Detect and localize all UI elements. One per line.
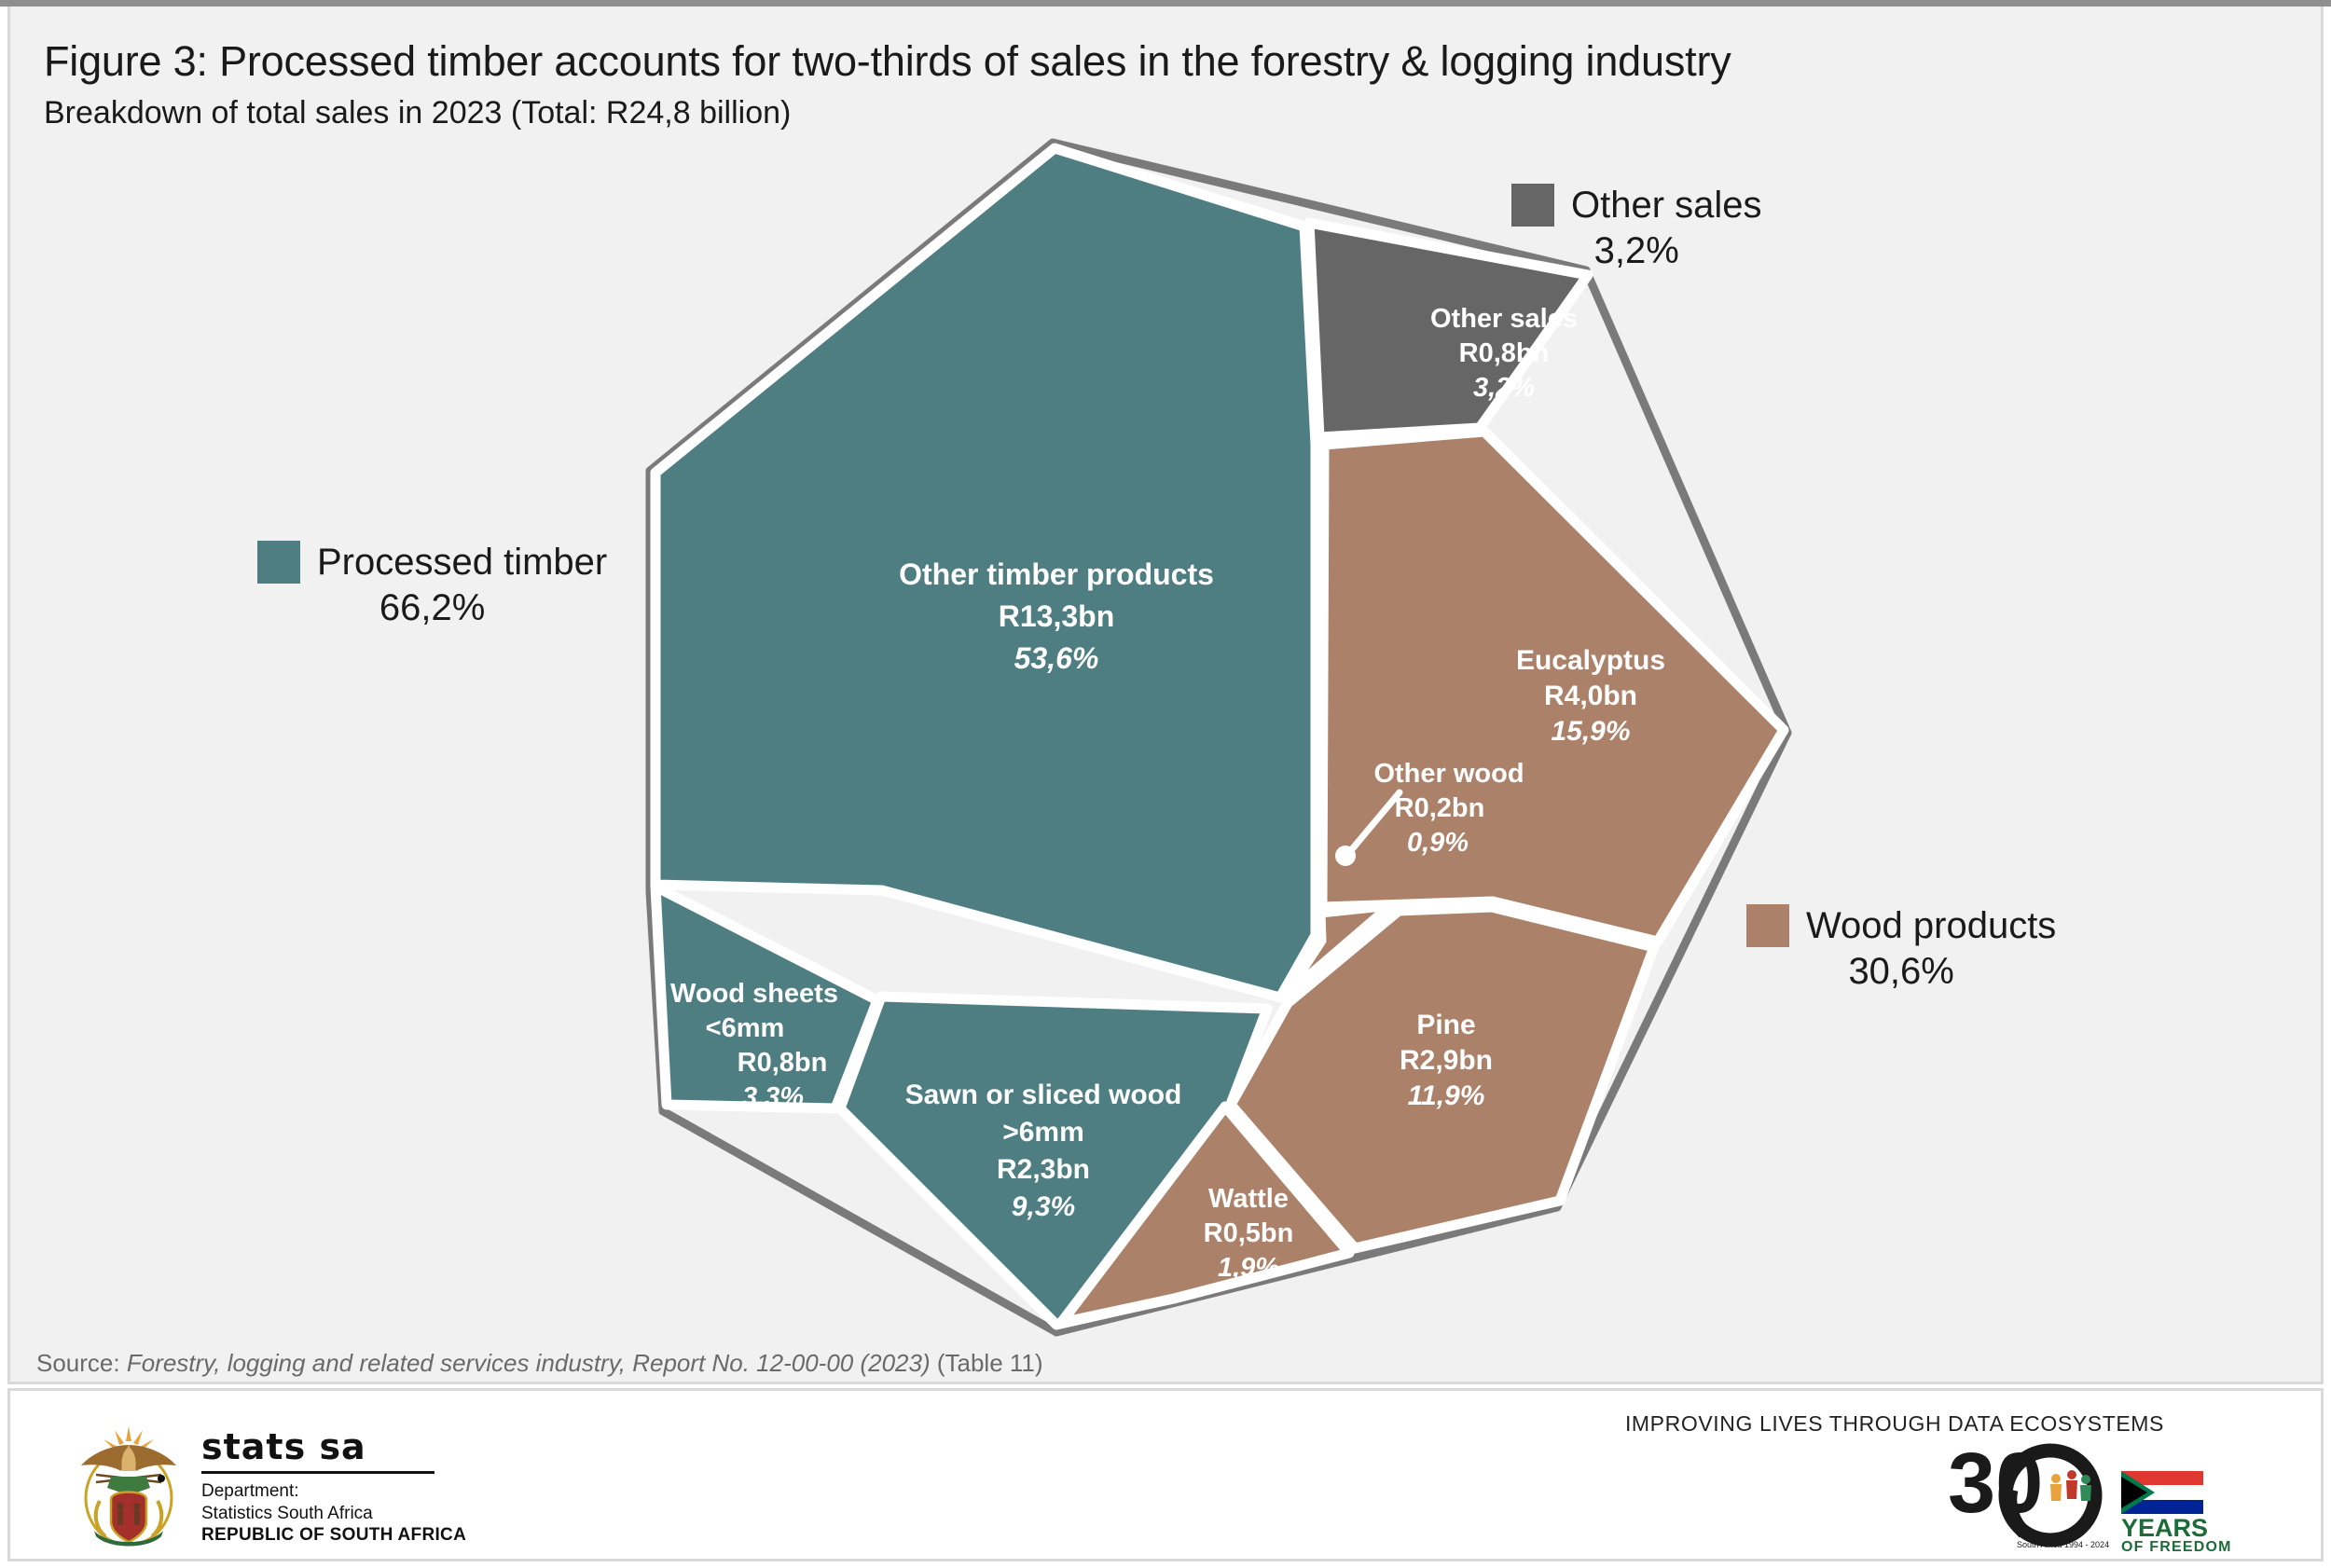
legend-percent-processed-timber: 66,2% — [379, 587, 485, 629]
label-line-1: Wattle — [1208, 1184, 1289, 1214]
statssa-divider — [201, 1471, 434, 1474]
label-line-3: 15,9% — [1551, 716, 1630, 747]
label-line-3: 3,2% — [1473, 373, 1535, 403]
legend-swatch-wood-products — [1746, 904, 1789, 947]
label-line-4: 9,3% — [1012, 1191, 1075, 1222]
source-citation: Forestry, logging and related services i… — [127, 1349, 931, 1377]
figure-subtitle: Breakdown of total sales in 2023 (Total:… — [44, 95, 791, 131]
anniversary-arc-label: South Africa 1994 - 2024 — [2017, 1540, 2109, 1549]
source-note: Source: Forestry, logging and related se… — [36, 1349, 1043, 1378]
legend-wood-products[interactable]: Wood products 30,6% — [1746, 904, 2056, 993]
label-line-1: Other sales — [1430, 304, 1578, 334]
legend-label-wood-products: Wood products — [1806, 905, 2056, 947]
label-line-2: R13,3bn — [999, 599, 1114, 633]
statssa-dept-line3: REPUBLIC OF SOUTH AFRICA — [201, 1525, 466, 1546]
label-line-1: Other wood — [1373, 759, 1524, 789]
page-footer: stats sa Department: Statistics South Af… — [7, 1388, 2324, 1561]
legend-swatch-processed-timber — [257, 541, 300, 584]
figure-title: Figure 3: Processed timber accounts for … — [44, 37, 1731, 86]
legend-label-processed-timber: Processed timber — [317, 542, 607, 584]
label-line-3: 53,6% — [1014, 641, 1099, 675]
label-line-2: <6mm — [706, 1013, 785, 1043]
voronoi-treemap: .cell { stroke: #ffffff; stroke-width: 1… — [10, 7, 2331, 1391]
legend-other-sales[interactable]: Other sales 3,2% — [1511, 184, 1762, 272]
label-line-3: R0,8bn — [738, 1048, 828, 1078]
legend-percent-wood-products: 30,6% — [1848, 951, 1953, 993]
label-line-3: 0,9% — [1407, 828, 1469, 858]
label-line-2: R0,8bn — [1459, 338, 1550, 368]
anniversary-freedom-label: OF FREEDOM — [2121, 1539, 2232, 1555]
label-line-2: R0,5bn — [1204, 1218, 1294, 1248]
footer-tagline: IMPROVING LIVES THROUGH DATA ECOSYSTEMS — [1625, 1411, 2164, 1437]
statssa-dept-line2: Statistics South Africa — [201, 1503, 466, 1525]
thirty-years-of-freedom-logo-icon: 30 YEARS OF FREEDOM South Africa — [1938, 1436, 2246, 1555]
figure-page: .cell { stroke: #ffffff; stroke-width: 1… — [0, 0, 2331, 1568]
legend-processed-timber[interactable]: Processed timber 66,2% — [257, 541, 607, 629]
legend-label-other-sales: Other sales — [1571, 185, 1762, 227]
label-line-1: Wood sheets — [670, 979, 838, 1009]
label-line-2: R4,0bn — [1544, 681, 1637, 711]
statssa-dept-line1: Department: — [201, 1480, 466, 1503]
source-suffix: (Table 11) — [931, 1349, 1043, 1377]
south-africa-coat-of-arms-icon — [68, 1410, 189, 1549]
source-prefix: Source: — [36, 1349, 127, 1377]
label-line-1: Eucalyptus — [1516, 645, 1665, 676]
south-african-flag-icon — [2121, 1471, 2203, 1514]
statssa-wordmark: stats sa Department: Statistics South Af… — [201, 1426, 466, 1546]
label-line-1: Other timber products — [899, 557, 1214, 591]
statssa-name: stats sa — [201, 1426, 466, 1467]
legend-percent-other-sales: 3,2% — [1594, 230, 1679, 272]
legend-swatch-other-sales — [1511, 184, 1554, 227]
label-line-3: 1,9% — [1218, 1253, 1279, 1283]
label-line-3: R2,3bn — [997, 1154, 1090, 1185]
label-line-2: R2,9bn — [1400, 1045, 1493, 1076]
label-line-4: 3,3% — [742, 1082, 804, 1112]
anniversary-years-label: YEARS — [2121, 1514, 2208, 1542]
label-line-1: Sawn or sliced wood — [905, 1080, 1182, 1110]
label-line-3: 11,9% — [1408, 1080, 1485, 1111]
label-line-1: Pine — [1416, 1010, 1475, 1040]
top-rule — [0, 0, 2331, 7]
label-line-2: >6mm — [1002, 1117, 1084, 1148]
label-line-2: R0,2bn — [1395, 793, 1485, 823]
chart-panel: .cell { stroke: #ffffff; stroke-width: 1… — [7, 7, 2324, 1384]
